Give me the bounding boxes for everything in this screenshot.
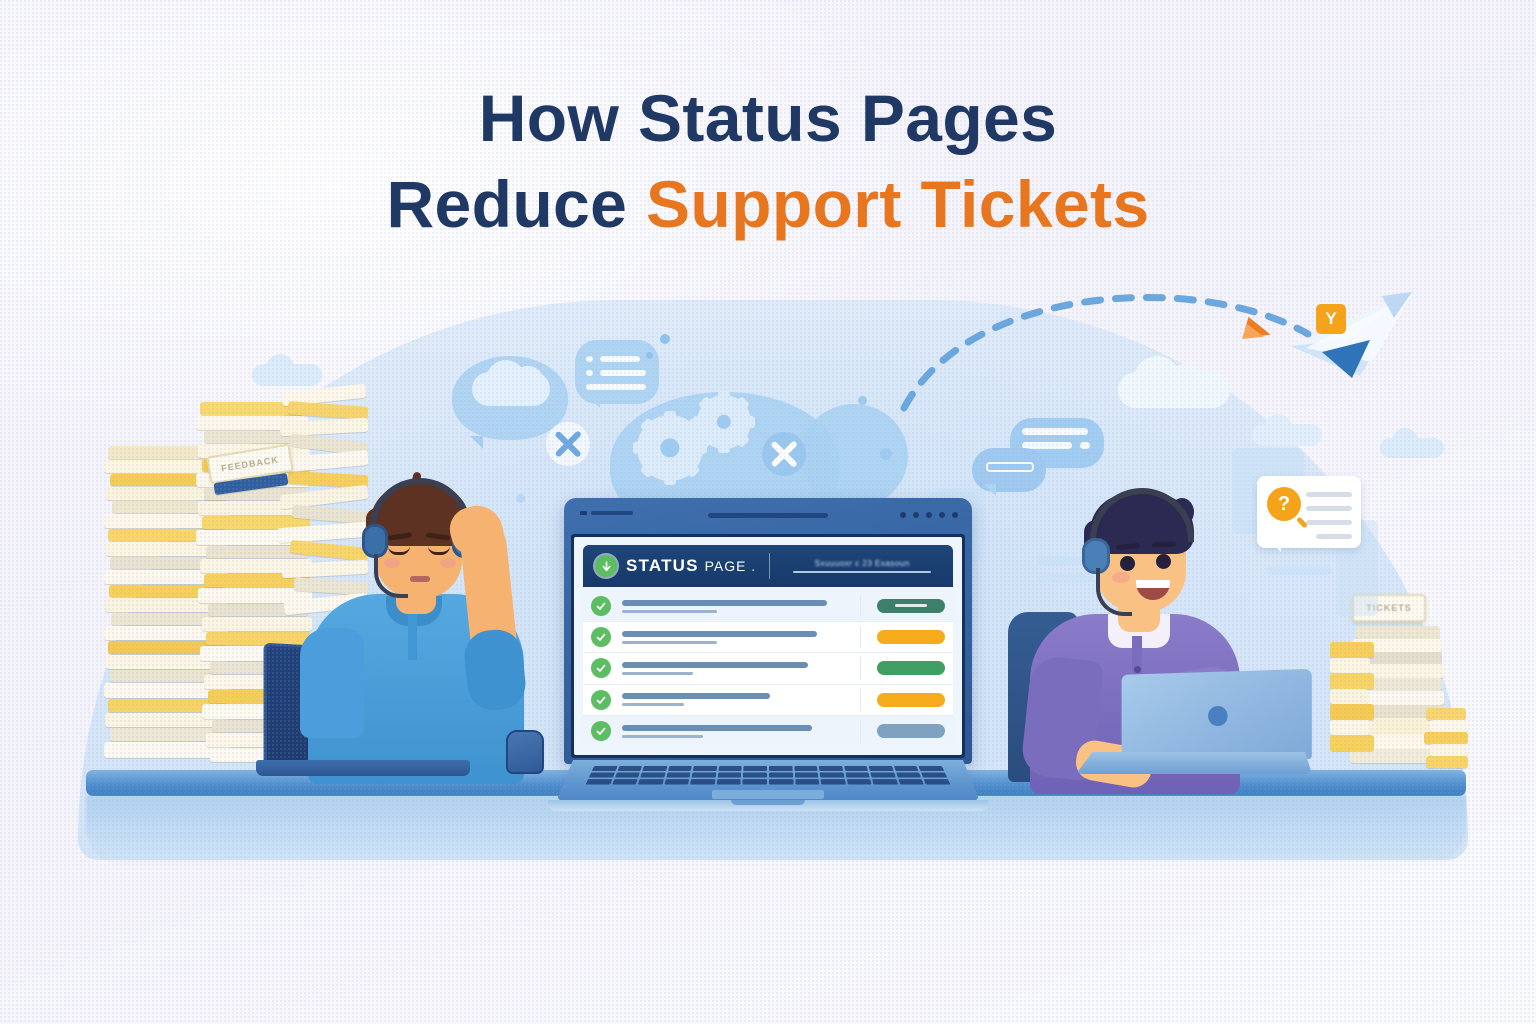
status-badge xyxy=(877,599,945,613)
list-line xyxy=(600,356,640,362)
chat-line xyxy=(1022,428,1088,435)
cloud-icon xyxy=(1392,428,1418,454)
row-separator xyxy=(860,595,861,617)
background-card xyxy=(1266,566,1332,575)
faq-card: ? xyxy=(1257,476,1361,548)
headset-mic xyxy=(374,554,408,598)
list-bullet xyxy=(586,370,593,376)
cloud-icon xyxy=(512,366,544,398)
page-title: How Status Pages Reduce Support Tickets xyxy=(0,76,1536,248)
accent-dot xyxy=(660,334,670,344)
laptop-logo-icon xyxy=(1208,706,1228,726)
check-circle-icon xyxy=(591,721,611,741)
agent-cheek xyxy=(440,558,456,568)
faq-line xyxy=(1306,520,1352,525)
headset-earcup xyxy=(362,524,388,558)
status-badge xyxy=(877,661,945,675)
plane-badge: Y xyxy=(1316,304,1346,334)
row-text xyxy=(611,693,860,706)
row-separator xyxy=(860,689,861,711)
headset-mic xyxy=(1096,568,1132,616)
table-row[interactable] xyxy=(583,653,953,684)
gear-icon xyxy=(646,424,694,472)
accent-dot xyxy=(858,396,867,405)
agent-eye xyxy=(1156,554,1171,569)
illustration-canvas: Y xyxy=(0,0,1536,1024)
row-separator xyxy=(860,657,861,679)
faq-line xyxy=(1306,492,1352,497)
magnifier-question-icon: ? xyxy=(1267,487,1301,521)
laptop-keyboard[interactable] xyxy=(586,766,951,784)
x-mark-icon xyxy=(762,432,806,476)
status-badge xyxy=(877,693,945,707)
chat-line xyxy=(1080,442,1090,449)
faq-line xyxy=(1306,506,1352,511)
main-laptop: STATUS PAGE . Sxuuuoxr c 23 Exasoun xyxy=(556,498,980,818)
browser-dots xyxy=(900,512,958,518)
left-laptop-base xyxy=(256,760,470,776)
status-page-header: STATUS PAGE . Sxuuuoxr c 23 Exasoun xyxy=(583,545,953,587)
agent-mouth xyxy=(410,576,430,582)
title-highlight: Support Tickets xyxy=(646,167,1150,241)
status-page-meta: Sxuuuoxr c 23 Exasoun xyxy=(783,559,941,573)
headset-band xyxy=(1090,488,1194,542)
browser-address-bar[interactable] xyxy=(708,513,828,518)
check-circle-icon xyxy=(591,690,611,710)
row-separator xyxy=(860,720,861,743)
row-text xyxy=(611,725,860,738)
dashed-arc xyxy=(900,290,1320,420)
accent-dot xyxy=(842,468,850,476)
table-row[interactable] xyxy=(583,685,953,716)
status-page-brand: STATUS PAGE . xyxy=(626,556,756,576)
paper-plane-icon: Y xyxy=(1286,288,1418,380)
list-bullet xyxy=(586,356,593,362)
row-text xyxy=(611,600,860,613)
check-circle-icon xyxy=(591,627,611,647)
list-line xyxy=(586,384,646,390)
right-laptop-base xyxy=(1076,752,1312,774)
meta-underline xyxy=(793,571,931,573)
check-circle-icon xyxy=(591,658,611,678)
title-plain: Reduce xyxy=(386,167,646,241)
table-row[interactable] xyxy=(583,591,953,622)
brand-light: PAGE . xyxy=(705,558,757,574)
x-mark-icon xyxy=(546,422,590,466)
bubble-tail xyxy=(470,436,483,462)
check-circle-icon xyxy=(591,596,611,616)
laptop-lid: STATUS PAGE . Sxuuuoxr c 23 Exasoun xyxy=(564,498,972,764)
screen-bezel: STATUS PAGE . Sxuuuoxr c 23 Exasoun xyxy=(571,534,965,758)
agent-sleeve xyxy=(300,628,364,738)
status-badge xyxy=(877,630,945,644)
meta-blurred-text: Sxuuuoxr c 23 Exasoun xyxy=(783,559,941,568)
laptop-trackpad[interactable] xyxy=(712,790,824,799)
agent-collar xyxy=(408,608,417,660)
gear-icon xyxy=(706,404,742,440)
list-line xyxy=(600,370,646,376)
status-page-screen: STATUS PAGE . Sxuuuoxr c 23 Exasoun xyxy=(574,537,962,755)
row-text xyxy=(611,662,860,675)
table-row[interactable] xyxy=(583,716,953,747)
agent-eyebrow xyxy=(1152,542,1176,548)
accent-dot xyxy=(646,352,653,359)
row-text xyxy=(611,631,860,644)
gear-cloud-lobe xyxy=(800,404,908,508)
title-line-1: How Status Pages xyxy=(0,76,1536,162)
right-laptop-screen xyxy=(1122,669,1312,759)
faq-line xyxy=(1316,534,1352,539)
header-divider xyxy=(769,553,770,579)
down-arrow-check-icon xyxy=(595,555,617,577)
mouse-device xyxy=(506,730,544,774)
brand-bold: STATUS xyxy=(626,556,699,575)
right-laptop xyxy=(1076,672,1312,778)
browser-chrome-left xyxy=(580,511,633,515)
accent-dot xyxy=(880,448,892,460)
title-line-2: Reduce Support Tickets xyxy=(0,162,1536,248)
status-page-rows xyxy=(583,591,953,747)
status-badge xyxy=(877,724,945,738)
row-separator xyxy=(860,626,861,648)
table-row[interactable] xyxy=(583,622,953,653)
laptop-notch xyxy=(731,800,805,805)
